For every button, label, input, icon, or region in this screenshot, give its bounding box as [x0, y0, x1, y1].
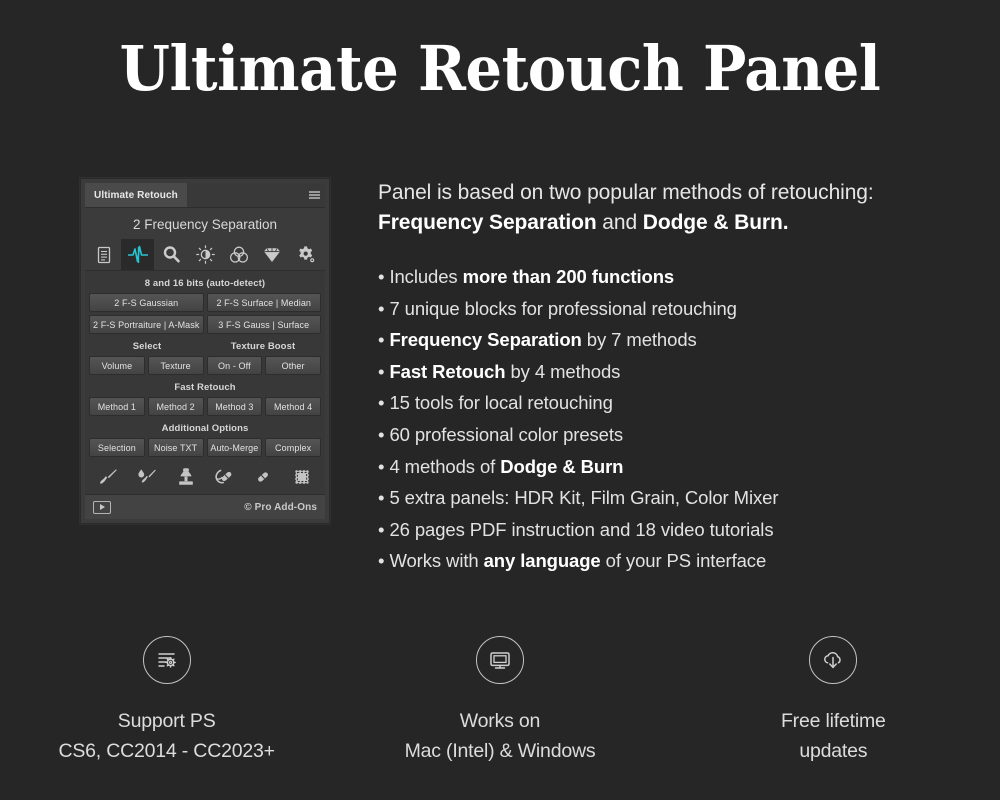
- photoshop-extension-panel[interactable]: Ultimate Retouch 2 Frequency Separation: [80, 178, 330, 524]
- btn-method-2[interactable]: Method 2: [148, 397, 204, 416]
- feature-copy: Panel is based on two popular methods of…: [378, 178, 982, 577]
- panel-footer: © Pro Add-Ons: [85, 494, 325, 519]
- feature-text: Free lifetime updates: [781, 706, 886, 766]
- brush-tool-icon[interactable]: [89, 466, 128, 488]
- list-item: • 5 extra panels: HDR Kit, Film Grain, C…: [378, 482, 982, 514]
- bullet-text-plain-1: 7 unique blocks for professional retouch…: [389, 298, 736, 319]
- healing-brush-tool-icon[interactable]: [244, 466, 283, 488]
- additional-options-row: Selection Noise TXT Auto-Merge Complex: [89, 438, 321, 457]
- bullet-text-plain-1: 4 methods of: [389, 456, 500, 477]
- feature-text: Support PS CS6, CC2014 - CC2023+: [58, 706, 274, 766]
- hamburger-icon[interactable]: [303, 183, 325, 207]
- bullet-text-plain-2: by 4 methods: [505, 361, 620, 382]
- brightness-contrast-icon[interactable]: [188, 239, 222, 270]
- lede-line-2: Frequency Separation and Dodge & Burn.: [378, 208, 982, 238]
- bullet-marker: •: [378, 266, 384, 287]
- feature-line-2: updates: [781, 736, 886, 766]
- panel-toolbar: [85, 239, 325, 271]
- list-item: • Fast Retouch by 4 methods: [378, 356, 982, 388]
- bullet-marker: •: [378, 487, 384, 508]
- lede-bold-frequency-separation: Frequency Separation: [378, 211, 597, 234]
- bit-depth-label: 8 and 16 bits (auto-detect): [89, 274, 321, 293]
- lede-paragraph: Panel is based on two popular methods of…: [378, 178, 982, 238]
- additional-options-label: Additional Options: [89, 419, 321, 438]
- feature-line-2: CS6, CC2014 - CC2023+: [58, 736, 274, 766]
- select-texture-labels: Select Texture Boost: [89, 337, 321, 356]
- bullet-text-bold: Dodge & Burn: [500, 456, 623, 477]
- btn-method-4[interactable]: Method 4: [265, 397, 321, 416]
- btn-3-fs-gauss-surface[interactable]: 3 F-S Gauss | Surface: [207, 315, 322, 334]
- fast-retouch-row: Method 1 Method 2 Method 3 Method 4: [89, 397, 321, 416]
- tab-ultimate-retouch[interactable]: Ultimate Retouch: [85, 183, 187, 207]
- btn-noise-txt[interactable]: Noise TXT: [148, 438, 204, 457]
- panel-heading: 2 Frequency Separation: [85, 208, 325, 239]
- color-circles-icon[interactable]: [222, 239, 256, 270]
- bullet-marker: •: [378, 456, 384, 477]
- tab-bar-filler: [187, 183, 303, 207]
- lede-line-1: Panel is based on two popular methods of…: [378, 178, 982, 208]
- feature-works-on: Works on Mac (Intel) & Windows: [333, 636, 666, 766]
- tool-icon-row: [89, 460, 321, 494]
- list-item: • Frequency Separation by 7 methods: [378, 324, 982, 356]
- feature-line-1: Support PS: [58, 706, 274, 736]
- btn-complex[interactable]: Complex: [265, 438, 321, 457]
- bullet-text-plain-1: Includes: [389, 266, 462, 287]
- magnifier-icon[interactable]: [154, 239, 188, 270]
- panel-tab-bar: Ultimate Retouch: [85, 183, 325, 208]
- bullet-list: • Includes more than 200 functions • 7 u…: [378, 261, 982, 577]
- marquee-selection-tool-icon[interactable]: [282, 466, 321, 488]
- btn-2-fs-portraiture-amask[interactable]: 2 F-S Portraiture | A-Mask: [89, 315, 204, 334]
- feature-support-ps: Support PS CS6, CC2014 - CC2023+: [0, 636, 333, 766]
- btn-on-off[interactable]: On - Off: [207, 356, 263, 375]
- clone-stamp-tool-icon[interactable]: [166, 466, 205, 488]
- gear-settings-icon[interactable]: [289, 239, 323, 270]
- btn-volume[interactable]: Volume: [89, 356, 145, 375]
- list-item: • 60 professional color presets: [378, 419, 982, 451]
- texture-boost-label: Texture Boost: [205, 337, 321, 356]
- patch-tool-icon[interactable]: [205, 466, 244, 488]
- feature-free-updates: Free lifetime updates: [667, 636, 1000, 766]
- feature-line-1: Works on: [405, 706, 596, 736]
- bullet-marker: •: [378, 392, 384, 413]
- fs-row-1: 2 F-S Gaussian 2 F-S Surface | Median: [89, 293, 321, 312]
- list-item: • 26 pages PDF instruction and 18 video …: [378, 514, 982, 546]
- play-button-icon[interactable]: [93, 501, 111, 514]
- bullet-marker: •: [378, 298, 384, 319]
- list-item: • Works with any language of your PS int…: [378, 545, 982, 577]
- bullet-text-bold: any language: [484, 550, 601, 571]
- bullet-text-plain-1: Works with: [389, 550, 483, 571]
- panel-body: 8 and 16 bits (auto-detect) 2 F-S Gaussi…: [85, 271, 325, 494]
- bullet-marker: •: [378, 550, 384, 571]
- list-item: • 4 methods of Dodge & Burn: [378, 451, 982, 483]
- bullet-marker: •: [378, 361, 384, 382]
- btn-selection[interactable]: Selection: [89, 438, 145, 457]
- monitor-icon: [476, 636, 524, 684]
- feature-line-2: Mac (Intel) & Windows: [405, 736, 596, 766]
- list-item: • 15 tools for local retouching: [378, 387, 982, 419]
- bullet-marker: •: [378, 424, 384, 445]
- bullet-text-plain-2: by 7 methods: [582, 329, 697, 350]
- btn-method-3[interactable]: Method 3: [207, 397, 263, 416]
- lede-and: and: [597, 211, 643, 234]
- feature-text: Works on Mac (Intel) & Windows: [405, 706, 596, 766]
- lede-bold-dodge-burn: Dodge & Burn.: [643, 211, 789, 234]
- cloud-download-icon: [809, 636, 857, 684]
- btn-other[interactable]: Other: [265, 356, 321, 375]
- btn-texture[interactable]: Texture: [148, 356, 204, 375]
- settings-list-icon: [143, 636, 191, 684]
- bullet-text-bold: Fast Retouch: [389, 361, 505, 382]
- bullet-text-bold: more than 200 functions: [463, 266, 675, 287]
- page-title: Ultimate Retouch Panel: [35, 36, 965, 101]
- select-texture-row: Volume Texture On - Off Other: [89, 356, 321, 375]
- bullet-text-bold: Frequency Separation: [389, 329, 581, 350]
- feature-line-1: Free lifetime: [781, 706, 886, 736]
- btn-method-1[interactable]: Method 1: [89, 397, 145, 416]
- bullet-text-plain-1: 60 professional color presets: [389, 424, 623, 445]
- bullet-marker: •: [378, 519, 384, 540]
- btn-2-fs-surface-median[interactable]: 2 F-S Surface | Median: [207, 293, 322, 312]
- bullet-marker: •: [378, 329, 384, 350]
- fs-row-2: 2 F-S Portraiture | A-Mask 3 F-S Gauss |…: [89, 315, 321, 334]
- list-item: • 7 unique blocks for professional retou…: [378, 293, 982, 325]
- btn-auto-merge[interactable]: Auto-Merge: [207, 438, 263, 457]
- document-icon[interactable]: [87, 239, 121, 270]
- frequency-waveform-icon[interactable]: [121, 239, 155, 270]
- fast-retouch-label: Fast Retouch: [89, 378, 321, 397]
- feature-badges: Support PS CS6, CC2014 - CC2023+ Works o…: [0, 636, 1000, 766]
- list-item: • Includes more than 200 functions: [378, 261, 982, 293]
- bullet-text-plain-1: 5 extra panels: HDR Kit, Film Grain, Col…: [389, 487, 778, 508]
- bullet-text-plain-2: of your PS interface: [601, 550, 767, 571]
- promo-page: Ultimate Retouch Panel Ultimate Retouch …: [0, 0, 1000, 800]
- bullet-text-plain-1: 15 tools for local retouching: [389, 392, 612, 413]
- mixer-brush-tool-icon[interactable]: [128, 466, 167, 488]
- diamond-icon[interactable]: [256, 239, 290, 270]
- footer-brand-label: © Pro Add-Ons: [244, 502, 317, 513]
- select-label: Select: [89, 337, 205, 356]
- btn-2-fs-gaussian[interactable]: 2 F-S Gaussian: [89, 293, 204, 312]
- bullet-text-plain-1: 26 pages PDF instruction and 18 video tu…: [389, 519, 773, 540]
